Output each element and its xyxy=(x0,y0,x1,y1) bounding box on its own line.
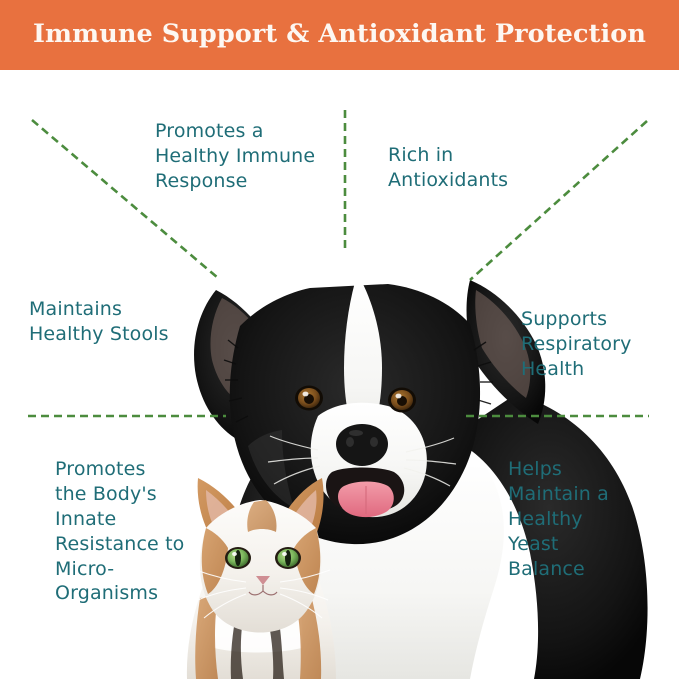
cat-eye-left xyxy=(225,547,251,569)
cat-eye-right xyxy=(275,547,301,569)
benefit-supports-respiratory-health: Supports Respiratory Health xyxy=(521,307,632,382)
benefit-promotes-healthy-immune-response: Promotes a Healthy Immune Response xyxy=(155,119,315,194)
dog-eye-right xyxy=(388,388,416,413)
infographic-root: Immune Support & Antioxidant Protection xyxy=(0,0,679,679)
page-title: Immune Support & Antioxidant Protection xyxy=(33,22,646,48)
cat-illustration xyxy=(187,478,336,679)
dog-eye-left xyxy=(295,386,323,411)
benefit-helps-maintain-healthy-yeast-balance: Helps Maintain a Healthy Yeast Balance xyxy=(508,457,609,581)
benefit-promotes-innate-resistance: Promotes the Body's Innate Resistance to… xyxy=(55,457,184,606)
benefit-rich-in-antioxidants: Rich in Antioxidants xyxy=(388,143,508,193)
benefit-maintains-healthy-stools: Maintains Healthy Stools xyxy=(29,297,169,347)
